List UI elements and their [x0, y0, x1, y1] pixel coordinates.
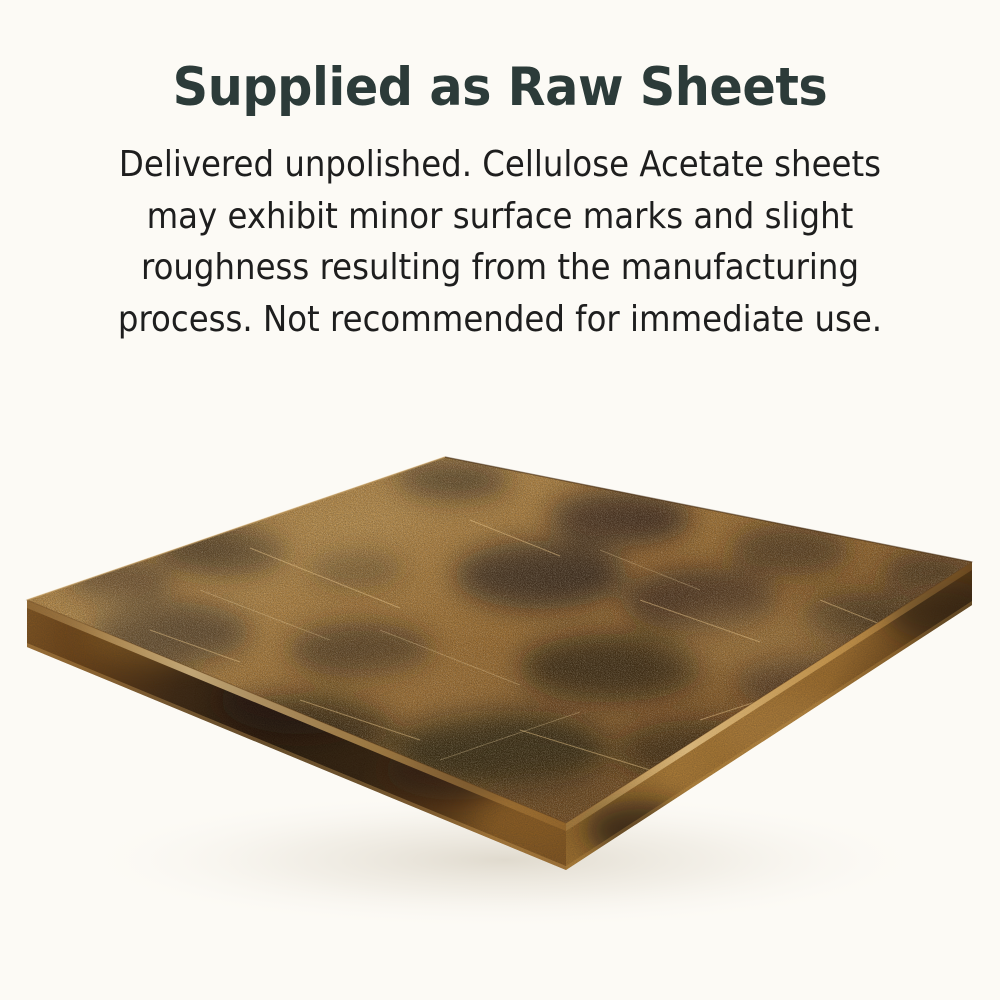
marketing-text-block: Supplied as Raw Sheets Delivered unpolis… — [0, 58, 1000, 345]
product-disclaimer-text: Delivered unpolished. Cellulose Acetate … — [104, 139, 896, 345]
disclaimer-line: process. Not recommended for immediate u… — [104, 294, 896, 345]
disclaimer-line: Delivered unpolished. Cellulose Acetate … — [104, 139, 896, 190]
disclaimer-line: may exhibit minor surface marks and slig… — [104, 191, 896, 242]
slab-top-face — [0, 440, 1000, 840]
page-title: Supplied as Raw Sheets — [91, 58, 909, 117]
disclaimer-line: roughness resulting from the manufacturi… — [104, 242, 896, 293]
product-image-stage — [0, 400, 1000, 1000]
acetate-sheet-illustration — [0, 400, 1000, 1000]
product-detail-panel: Supplied as Raw Sheets Delivered unpolis… — [0, 0, 1000, 1000]
